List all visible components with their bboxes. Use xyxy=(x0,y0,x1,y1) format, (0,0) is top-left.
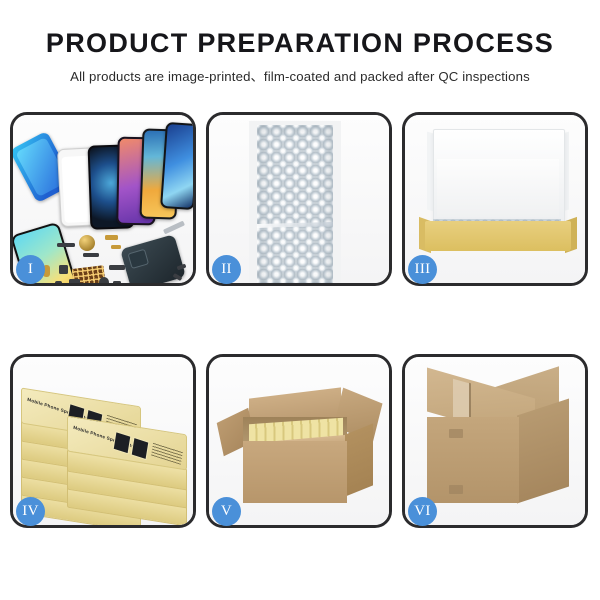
yellow-box-tray-icon xyxy=(425,221,571,251)
process-step-panel-2: II xyxy=(206,112,392,286)
part-camera-icon xyxy=(99,277,109,283)
step-number-badge-2: II xyxy=(212,255,241,284)
box-screen-graphic xyxy=(131,437,150,460)
carton-notch-icon xyxy=(449,485,463,494)
carton-front-face-icon xyxy=(427,417,519,503)
step-number-badge-1: I xyxy=(16,255,45,284)
part-chip-icon xyxy=(83,253,99,257)
carton-notch-icon xyxy=(449,429,463,438)
bubble-wrap-icon xyxy=(257,125,333,283)
part-chip-icon xyxy=(113,281,121,283)
box-screen-graphic xyxy=(113,431,132,454)
part-chip-icon xyxy=(57,243,75,247)
step-number-badge-4: IV xyxy=(16,497,45,526)
header: PRODUCT PREPARATION PROCESS All products… xyxy=(0,0,600,85)
page-title: PRODUCT PREPARATION PROCESS xyxy=(0,30,600,57)
speaker-module-icon xyxy=(79,235,95,251)
page-subtitle: All products are image-printed、film-coat… xyxy=(0,66,600,85)
phone-blue-screen-icon xyxy=(160,122,193,210)
part-flex-cable-icon xyxy=(105,235,118,240)
foam-sheet-icon xyxy=(437,159,559,217)
step-number-badge-5: V xyxy=(212,497,241,526)
process-step-panel-4: Mobile Phone Spare Parts Mobile Phone Sp… xyxy=(10,354,196,528)
part-chip-icon xyxy=(109,265,125,270)
part-chip-icon xyxy=(59,265,68,274)
part-tool-icon xyxy=(163,221,185,235)
process-step-panel-1: I xyxy=(10,112,196,286)
part-chip-icon xyxy=(69,279,80,283)
process-steps-grid: I II III xyxy=(10,112,590,528)
product-preparation-infographic: PRODUCT PREPARATION PROCESS All products… xyxy=(0,0,600,600)
box-text-lines-graphic xyxy=(151,442,183,465)
part-chip-icon xyxy=(55,281,62,283)
step-number-badge-3: III xyxy=(408,255,437,284)
process-step-panel-6: VI xyxy=(402,354,588,528)
carton-right-side-icon xyxy=(517,399,569,504)
carton-front-face-icon xyxy=(243,441,347,503)
carton-right-side-icon xyxy=(345,423,373,496)
box-stack-icon: Mobile Phone Spare Parts Mobile Phone Sp… xyxy=(21,373,191,523)
process-step-panel-5: V xyxy=(206,354,392,528)
step-number-badge-6: VI xyxy=(408,497,437,526)
process-step-panel-3: III xyxy=(402,112,588,286)
part-flex-cable-icon xyxy=(111,245,121,249)
